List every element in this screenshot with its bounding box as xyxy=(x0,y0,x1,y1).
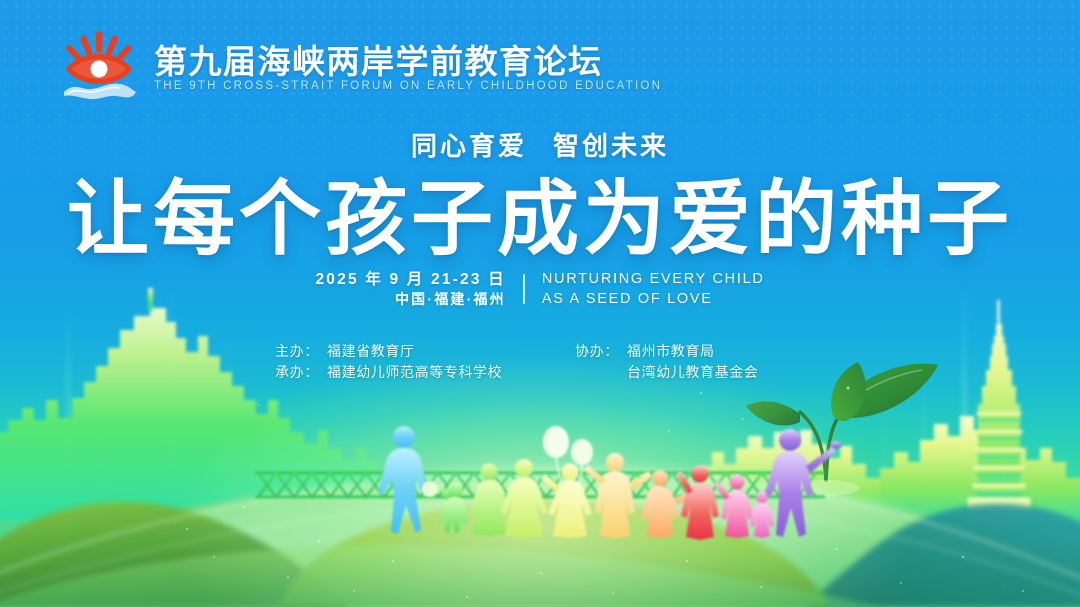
slogan: 同心育爱智创未来 xyxy=(0,132,1080,161)
header-title-cn-b: 海峡两岸学前教育论坛 xyxy=(258,43,603,80)
header: 第九届海峡两岸学前教育论坛 THE 9TH CROSS-STRAIT FORUM… xyxy=(58,28,662,106)
slogan-part2: 智创未来 xyxy=(553,131,669,161)
organizers-right-column: 协办： 福州市教育局 协办： 台湾幼儿教育基金会 xyxy=(575,344,805,379)
forum-logo-hand-eye-wave xyxy=(58,28,140,106)
event-date: 2025 年 9 月 21-23 日 xyxy=(315,272,505,288)
figure-adult-right xyxy=(766,429,842,537)
organizer-row: 主办： 福建省教育厅 xyxy=(275,344,575,358)
figure-child-1 xyxy=(438,483,468,534)
organizer-value: 福建省教育厅 xyxy=(327,344,415,358)
organizer-value: 福建幼儿师范高等专科学校 xyxy=(327,365,502,379)
event-location: 中国·福建·福州 xyxy=(315,292,505,306)
wave-icon xyxy=(64,84,136,100)
event-info-row: 2025 年 9 月 21-23 日 中国·福建·福州 NURTURING EV… xyxy=(0,272,1080,306)
header-title-en: THE 9TH CROSS-STRAIT FORUM ON EARLY CHIL… xyxy=(154,81,662,93)
figure-child-3 xyxy=(500,459,548,538)
organizer-value: 福州市教育局 xyxy=(627,344,715,358)
slogan-part1: 同心育爱 xyxy=(411,131,527,161)
figure-child-7 xyxy=(676,466,719,541)
organizers-left-column: 主办： 福建省教育厅 承办： 福建幼儿师范高等专科学校 xyxy=(275,344,575,379)
organizer-label: 协办： xyxy=(575,344,627,358)
organizer-row: 承办： 福建幼儿师范高等专科学校 xyxy=(275,365,575,379)
organizer-label: 主办： xyxy=(275,344,327,358)
organizer-value: 台湾幼儿教育基金会 xyxy=(627,365,758,379)
english-tagline-block: NURTURING EVERY CHILD AS A SEED OF LOVE xyxy=(525,272,765,306)
organizers-block: 主办： 福建省教育厅 承办： 福建幼儿师范高等专科学校 协办： 福州市教育局 协… xyxy=(0,344,1080,379)
main-title: 让每个孩子成为爱的种子 xyxy=(0,179,1080,261)
figure-child-8 xyxy=(714,475,753,539)
header-title-cn: 第九届海峡两岸学前教育论坛 xyxy=(154,45,662,78)
header-title-cn-a: 第九届 xyxy=(154,43,258,80)
event-poster: 第九届海峡两岸学前教育论坛 THE 9TH CROSS-STRAIT FORUM… xyxy=(0,0,1080,607)
title-block: 同心育爱智创未来 让每个孩子成为爱的种子 xyxy=(0,132,1080,261)
tagline-line-2: AS A SEED OF LOVE xyxy=(542,292,765,307)
figure-adult-left xyxy=(379,426,438,534)
organizer-row: 协办： 福州市教育局 xyxy=(575,344,805,358)
tagline-line-1: NURTURING EVERY CHILD xyxy=(542,272,765,287)
date-location-block: 2025 年 9 月 21-23 日 中国·福建·福州 xyxy=(315,272,522,306)
organizer-row: 协办： 台湾幼儿教育基金会 xyxy=(575,365,805,379)
organizer-label: 承办： xyxy=(275,365,327,379)
